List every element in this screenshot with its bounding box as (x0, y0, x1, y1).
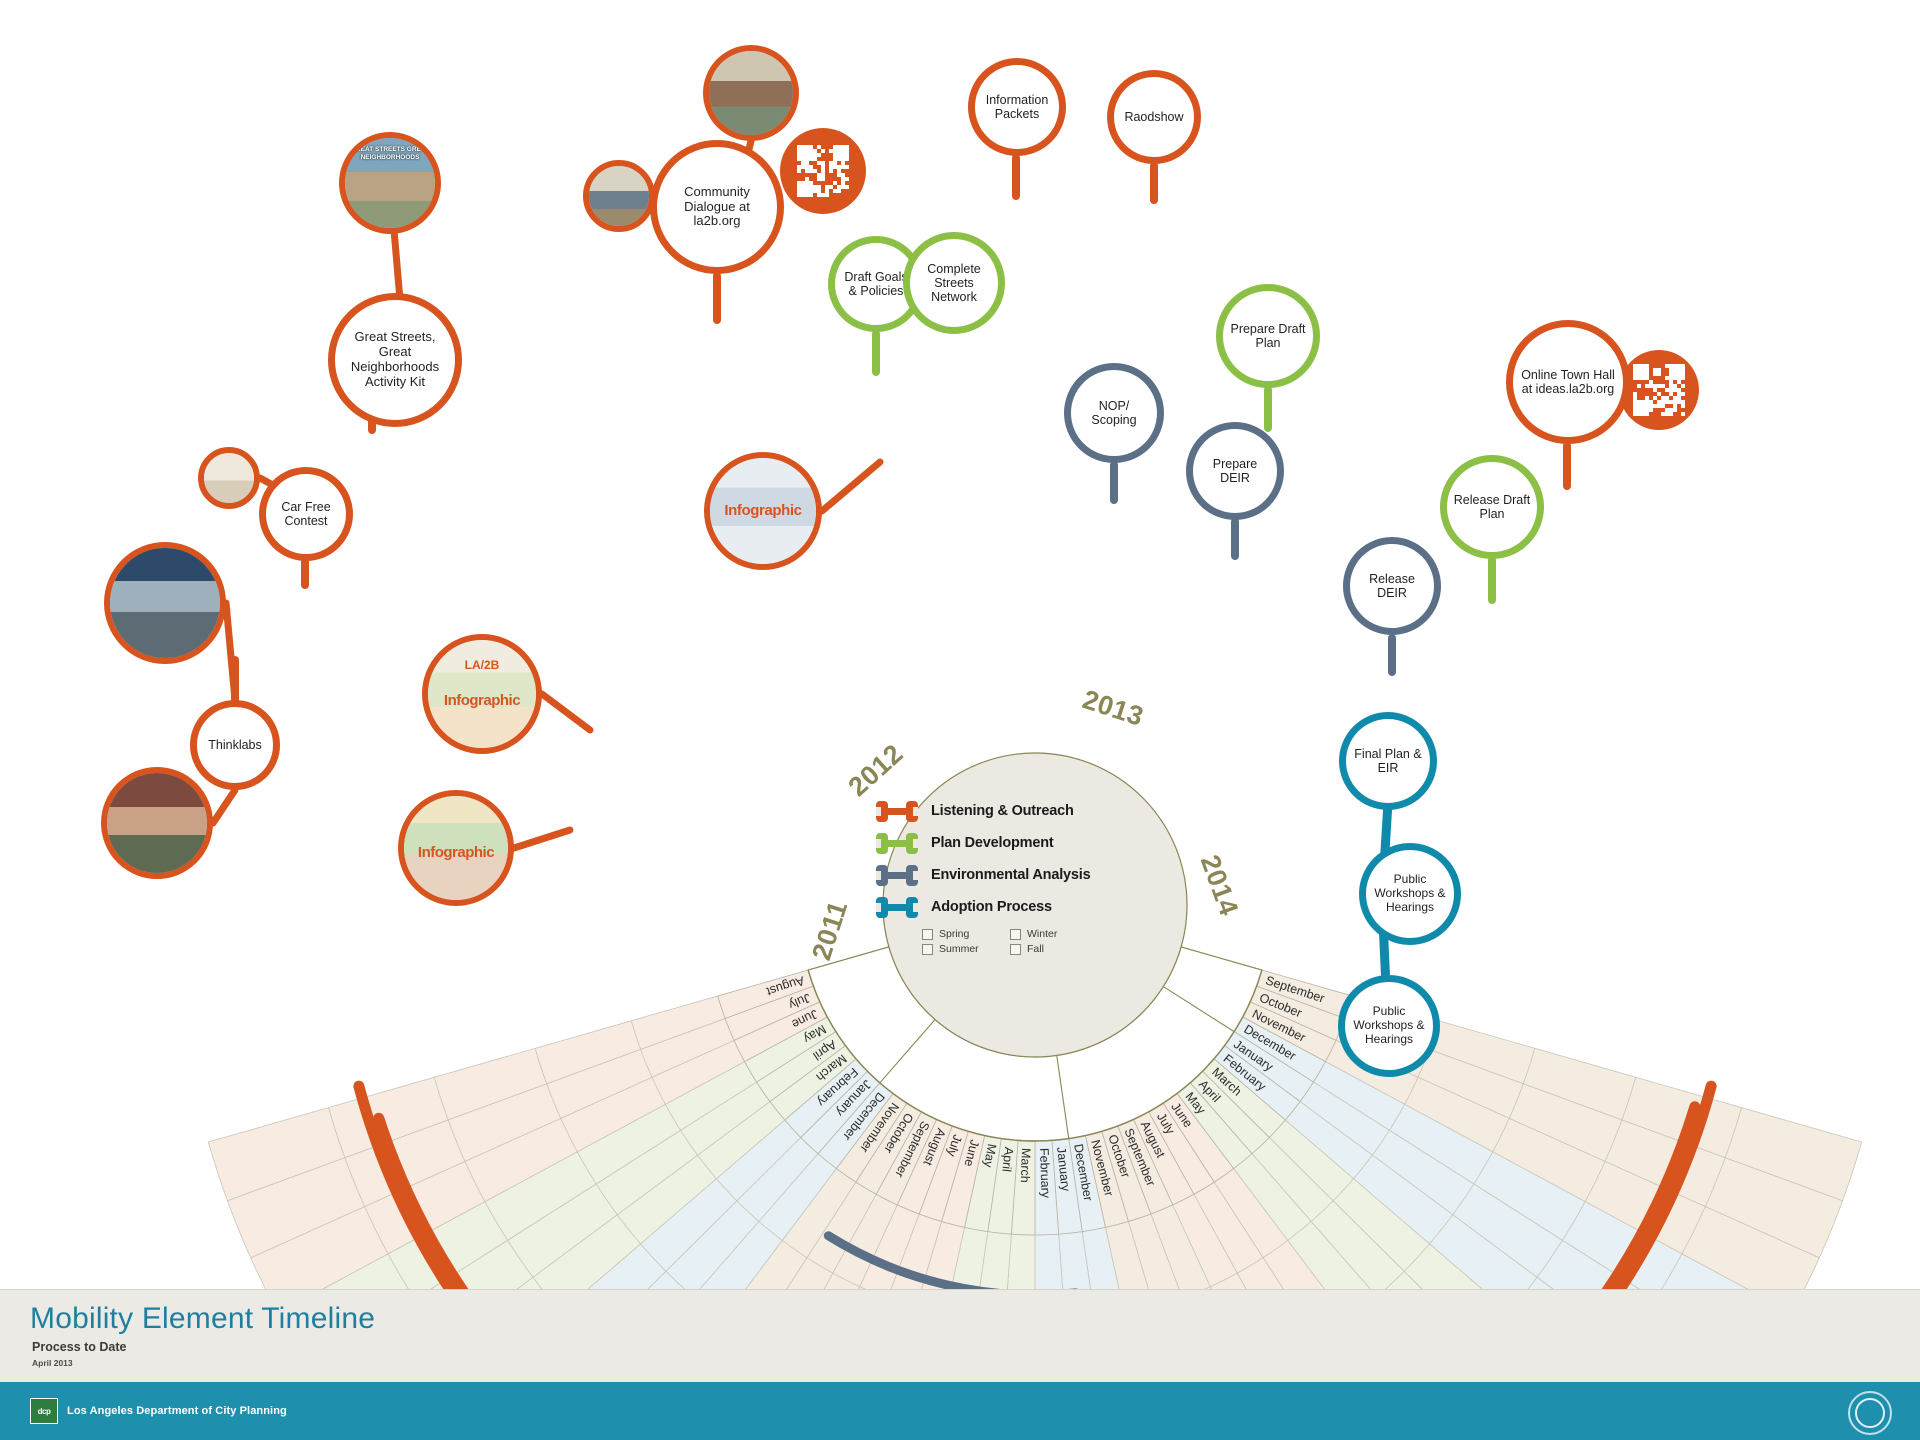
infographic-3-label: Infographic (404, 844, 508, 861)
milestone-nop-scoping[interactable]: NOP/ Scoping (1064, 363, 1164, 463)
photo-car-free-contest[interactable] (198, 447, 260, 509)
milestone-prepare-deir[interactable]: Prepare DEIR (1186, 422, 1284, 520)
checkbox-icon-winter[interactable] (1010, 929, 1021, 940)
season-label-winter: Winter (1027, 928, 1057, 940)
milestone-community-dialogue[interactable]: Community Dialogue at la2b.org (650, 140, 784, 274)
milestone-label-information-packets: Information Packets (975, 93, 1059, 122)
photo-thinklabs-2[interactable] (101, 767, 213, 879)
season-winter[interactable]: Winter (1010, 928, 1086, 940)
legend-label-listening: Listening & Outreach (931, 803, 1074, 819)
qr-code-icon-la2b (797, 145, 849, 197)
photo-community-workshop[interactable] (583, 160, 655, 232)
qr-la2b[interactable] (780, 128, 866, 214)
photo-community-meeting[interactable] (703, 45, 799, 141)
milestone-label-complete-streets-network: Complete Streets Network (910, 262, 998, 305)
dumbbell-icon-adoption (876, 897, 918, 918)
infographic-la2b-label: LA/2B (428, 658, 536, 672)
milestone-label-nop-scoping: NOP/ Scoping (1071, 399, 1157, 428)
milestone-release-draft-plan[interactable]: Release Draft Plan (1440, 455, 1544, 559)
milestone-online-town-hall[interactable]: Online Town Hall at ideas.la2b.org (1506, 320, 1630, 444)
checkbox-icon-summer[interactable] (922, 944, 933, 955)
timeline-canvas: SeptemberOctoberNovemberDecemberJanuaryF… (0, 0, 1920, 1440)
infographic-2-label: Infographic (428, 692, 536, 709)
thumb-connector-3 (213, 790, 235, 823)
milestone-label-online-town-hall: Online Town Hall at ideas.la2b.org (1513, 368, 1623, 397)
milestone-information-packets[interactable]: Information Packets (968, 58, 1066, 156)
legend-label-environmental: Environmental Analysis (931, 867, 1090, 883)
footer-band: Mobility Element Timeline Process to Dat… (0, 1289, 1920, 1382)
page-title: Mobility Element Timeline (30, 1302, 375, 1336)
legend-item-environmental[interactable]: Environmental Analysis (876, 864, 1166, 886)
season-label-fall: Fall (1027, 943, 1044, 955)
infographic-1[interactable]: Infographic (704, 452, 822, 570)
milestone-public-workshops-2[interactable]: Public Workshops & Hearings (1338, 975, 1440, 1077)
milestone-label-public-workshops-1: Public Workshops & Hearings (1366, 873, 1454, 914)
milestone-release-deir[interactable]: Release DEIR (1343, 537, 1441, 635)
milestone-label-prepare-draft-plan: Prepare Draft Plan (1223, 322, 1313, 351)
radial-fan-chart (0, 0, 1920, 1440)
legend-label-adoption: Adoption Process (931, 899, 1052, 915)
season-label-spring: Spring (939, 928, 969, 940)
milestone-label-prepare-deir: Prepare DEIR (1193, 457, 1277, 486)
milestone-label-great-streets-kit: Great Streets, Great Neighborhoods Activ… (335, 330, 455, 389)
thumb-connector-6 (822, 462, 880, 511)
milestone-prepare-draft-plan[interactable]: Prepare Draft Plan (1216, 284, 1320, 388)
thumb-connector-8 (514, 830, 570, 848)
dcp-logo-icon: dcp (30, 1398, 58, 1424)
month-label-2013-March: March (1018, 1148, 1033, 1183)
milestone-complete-streets-network[interactable]: Complete Streets Network (903, 232, 1005, 334)
milestone-label-community-dialogue: Community Dialogue at la2b.org (657, 185, 777, 229)
dumbbell-icon-plan (876, 833, 918, 854)
season-summer[interactable]: Summer (922, 943, 998, 955)
legend: Listening & Outreach Plan Development En… (876, 800, 1166, 955)
page-date: April 2013 (32, 1358, 73, 1368)
dumbbell-icon-listening (876, 801, 918, 822)
legend-label-plan: Plan Development (931, 835, 1054, 851)
milestone-label-thinklabs: Thinklabs (202, 738, 268, 752)
milestone-label-final-plan-eir: Final Plan & EIR (1346, 747, 1430, 776)
city-seal-icon (1848, 1391, 1892, 1435)
season-legend: Spring Winter Summer Fall (922, 928, 1166, 955)
agency-bar: dcp Los Angeles Department of City Plann… (0, 1382, 1920, 1440)
legend-item-plan[interactable]: Plan Development (876, 832, 1166, 854)
qr-ideas[interactable] (1619, 350, 1699, 430)
milestone-label-release-draft-plan: Release Draft Plan (1447, 493, 1537, 522)
milestone-great-streets-kit[interactable]: Great Streets, Great Neighborhoods Activ… (328, 293, 462, 427)
dumbbell-icon-environmental (876, 865, 918, 886)
qr-code-icon-ideas (1633, 364, 1685, 416)
season-fall[interactable]: Fall (1010, 943, 1086, 955)
agency-name: Los Angeles Department of City Planning (67, 1405, 287, 1417)
milestone-label-release-deir: Release DEIR (1350, 572, 1434, 601)
milestone-label-roadshow: Raodshow (1118, 110, 1189, 124)
legend-item-adoption[interactable]: Adoption Process (876, 896, 1166, 918)
milestone-label-public-workshops-2: Public Workshops & Hearings (1345, 1005, 1433, 1046)
infographic-3[interactable]: Infographic (398, 790, 514, 906)
checkbox-icon-spring[interactable] (922, 929, 933, 940)
milestone-thinklabs[interactable]: Thinklabs (190, 700, 280, 790)
milestone-car-free-contest[interactable]: Car Free Contest (259, 467, 353, 561)
infographic-1-label: Infographic (710, 502, 816, 519)
season-label-summer: Summer (939, 943, 979, 955)
legend-item-listening[interactable]: Listening & Outreach (876, 800, 1166, 822)
checkbox-icon-fall[interactable] (1010, 944, 1021, 955)
page-subtitle: Process to Date (32, 1340, 126, 1354)
thumb-connector-2 (226, 603, 235, 700)
milestone-roadshow[interactable]: Raodshow (1107, 70, 1201, 164)
milestone-label-car-free-contest: Car Free Contest (266, 500, 346, 529)
month-label-2013-February: February (1037, 1148, 1053, 1199)
milestone-final-plan-eir[interactable]: Final Plan & EIR (1339, 712, 1437, 810)
infographic-la2b[interactable]: LA/2B Infographic (422, 634, 542, 754)
photo-thinklabs-1[interactable] (104, 542, 226, 664)
photo-caption-great-streets: GREAT STREETS GREAT NEIGHBORHOODS (345, 146, 435, 162)
thumb-connector-7 (542, 694, 590, 730)
milestone-public-workshops-1[interactable]: Public Workshops & Hearings (1359, 843, 1461, 945)
season-spring[interactable]: Spring (922, 928, 998, 940)
month-label-2013-April: April (999, 1146, 1016, 1172)
photo-great-streets-kit[interactable]: GREAT STREETS GREAT NEIGHBORHOODS (339, 132, 441, 234)
